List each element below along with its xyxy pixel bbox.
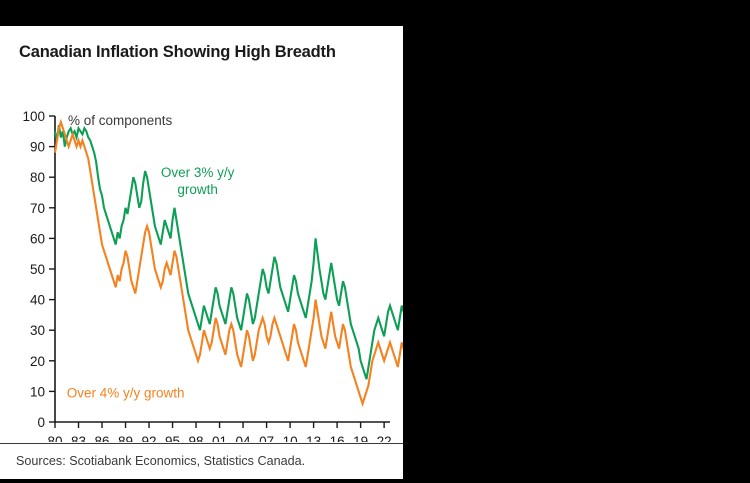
x-axis-tick-label: 19 <box>353 434 368 442</box>
chart-plot-area: 0102030405060708090100 80838689929598010… <box>0 70 403 442</box>
x-axis-tick-label: 80 <box>47 434 62 442</box>
x-axis-tick-label: 01 <box>212 434 227 442</box>
y-axis-tick-label: 30 <box>30 323 45 338</box>
series-line <box>55 125 403 379</box>
x-axis-tick-label: 07 <box>259 434 274 442</box>
x-axis-tick-label: 86 <box>95 434 110 442</box>
panel-bottom-rule <box>0 479 403 481</box>
x-axis-tick-label: 98 <box>189 434 204 442</box>
x-axis-tick-label: 89 <box>118 434 133 442</box>
x-axis-ticks: 808386899295980104071013161922 <box>47 422 391 442</box>
x-axis-tick-label: 16 <box>330 434 345 442</box>
footer-divider <box>0 443 403 444</box>
y-axis-tick-label: 80 <box>30 170 45 185</box>
y-axis-tick-label: 20 <box>30 354 45 369</box>
y-axis-tick-label: 70 <box>30 201 45 216</box>
sources-note: Sources: Scotiabank Economics, Statistic… <box>16 454 305 468</box>
y-axis-tick-label: 90 <box>30 140 45 155</box>
y-axis-ticks: 0102030405060708090100 <box>22 109 55 430</box>
x-axis-tick-label: 13 <box>306 434 321 442</box>
x-axis-tick-label: 83 <box>71 434 86 442</box>
x-axis-tick-label: 92 <box>142 434 157 442</box>
y-axis-tick-label: 40 <box>30 293 45 308</box>
inflation-breadth-line-chart: 0102030405060708090100 80838689929598010… <box>0 70 403 442</box>
chart-panel: Canadian Inflation Showing High Breadth … <box>0 26 403 481</box>
x-axis-tick-label: 10 <box>283 434 298 442</box>
y-axis-tick-label: 60 <box>30 231 45 246</box>
screenshot-root: Canadian Inflation Showing High Breadth … <box>0 0 750 483</box>
page-title: Canadian Inflation Showing High Breadth <box>19 43 336 62</box>
x-axis-tick-label: 95 <box>165 434 180 442</box>
y-axis-tick-label: 50 <box>30 262 45 277</box>
y-axis-tick-label: 0 <box>37 415 45 430</box>
axis-note-label: % of components <box>68 113 173 128</box>
y-axis-tick-label: 100 <box>22 109 45 124</box>
over-3-annotation-line1: Over 3% y/y <box>161 165 235 180</box>
axis-lines <box>55 116 390 422</box>
over-4-annotation: Over 4% y/y growth <box>67 386 185 401</box>
y-axis-tick-label: 10 <box>30 384 45 399</box>
over-3-annotation-line2: growth <box>177 182 218 197</box>
x-axis-tick-label: 22 <box>377 434 392 442</box>
x-axis-tick-label: 04 <box>236 434 252 442</box>
